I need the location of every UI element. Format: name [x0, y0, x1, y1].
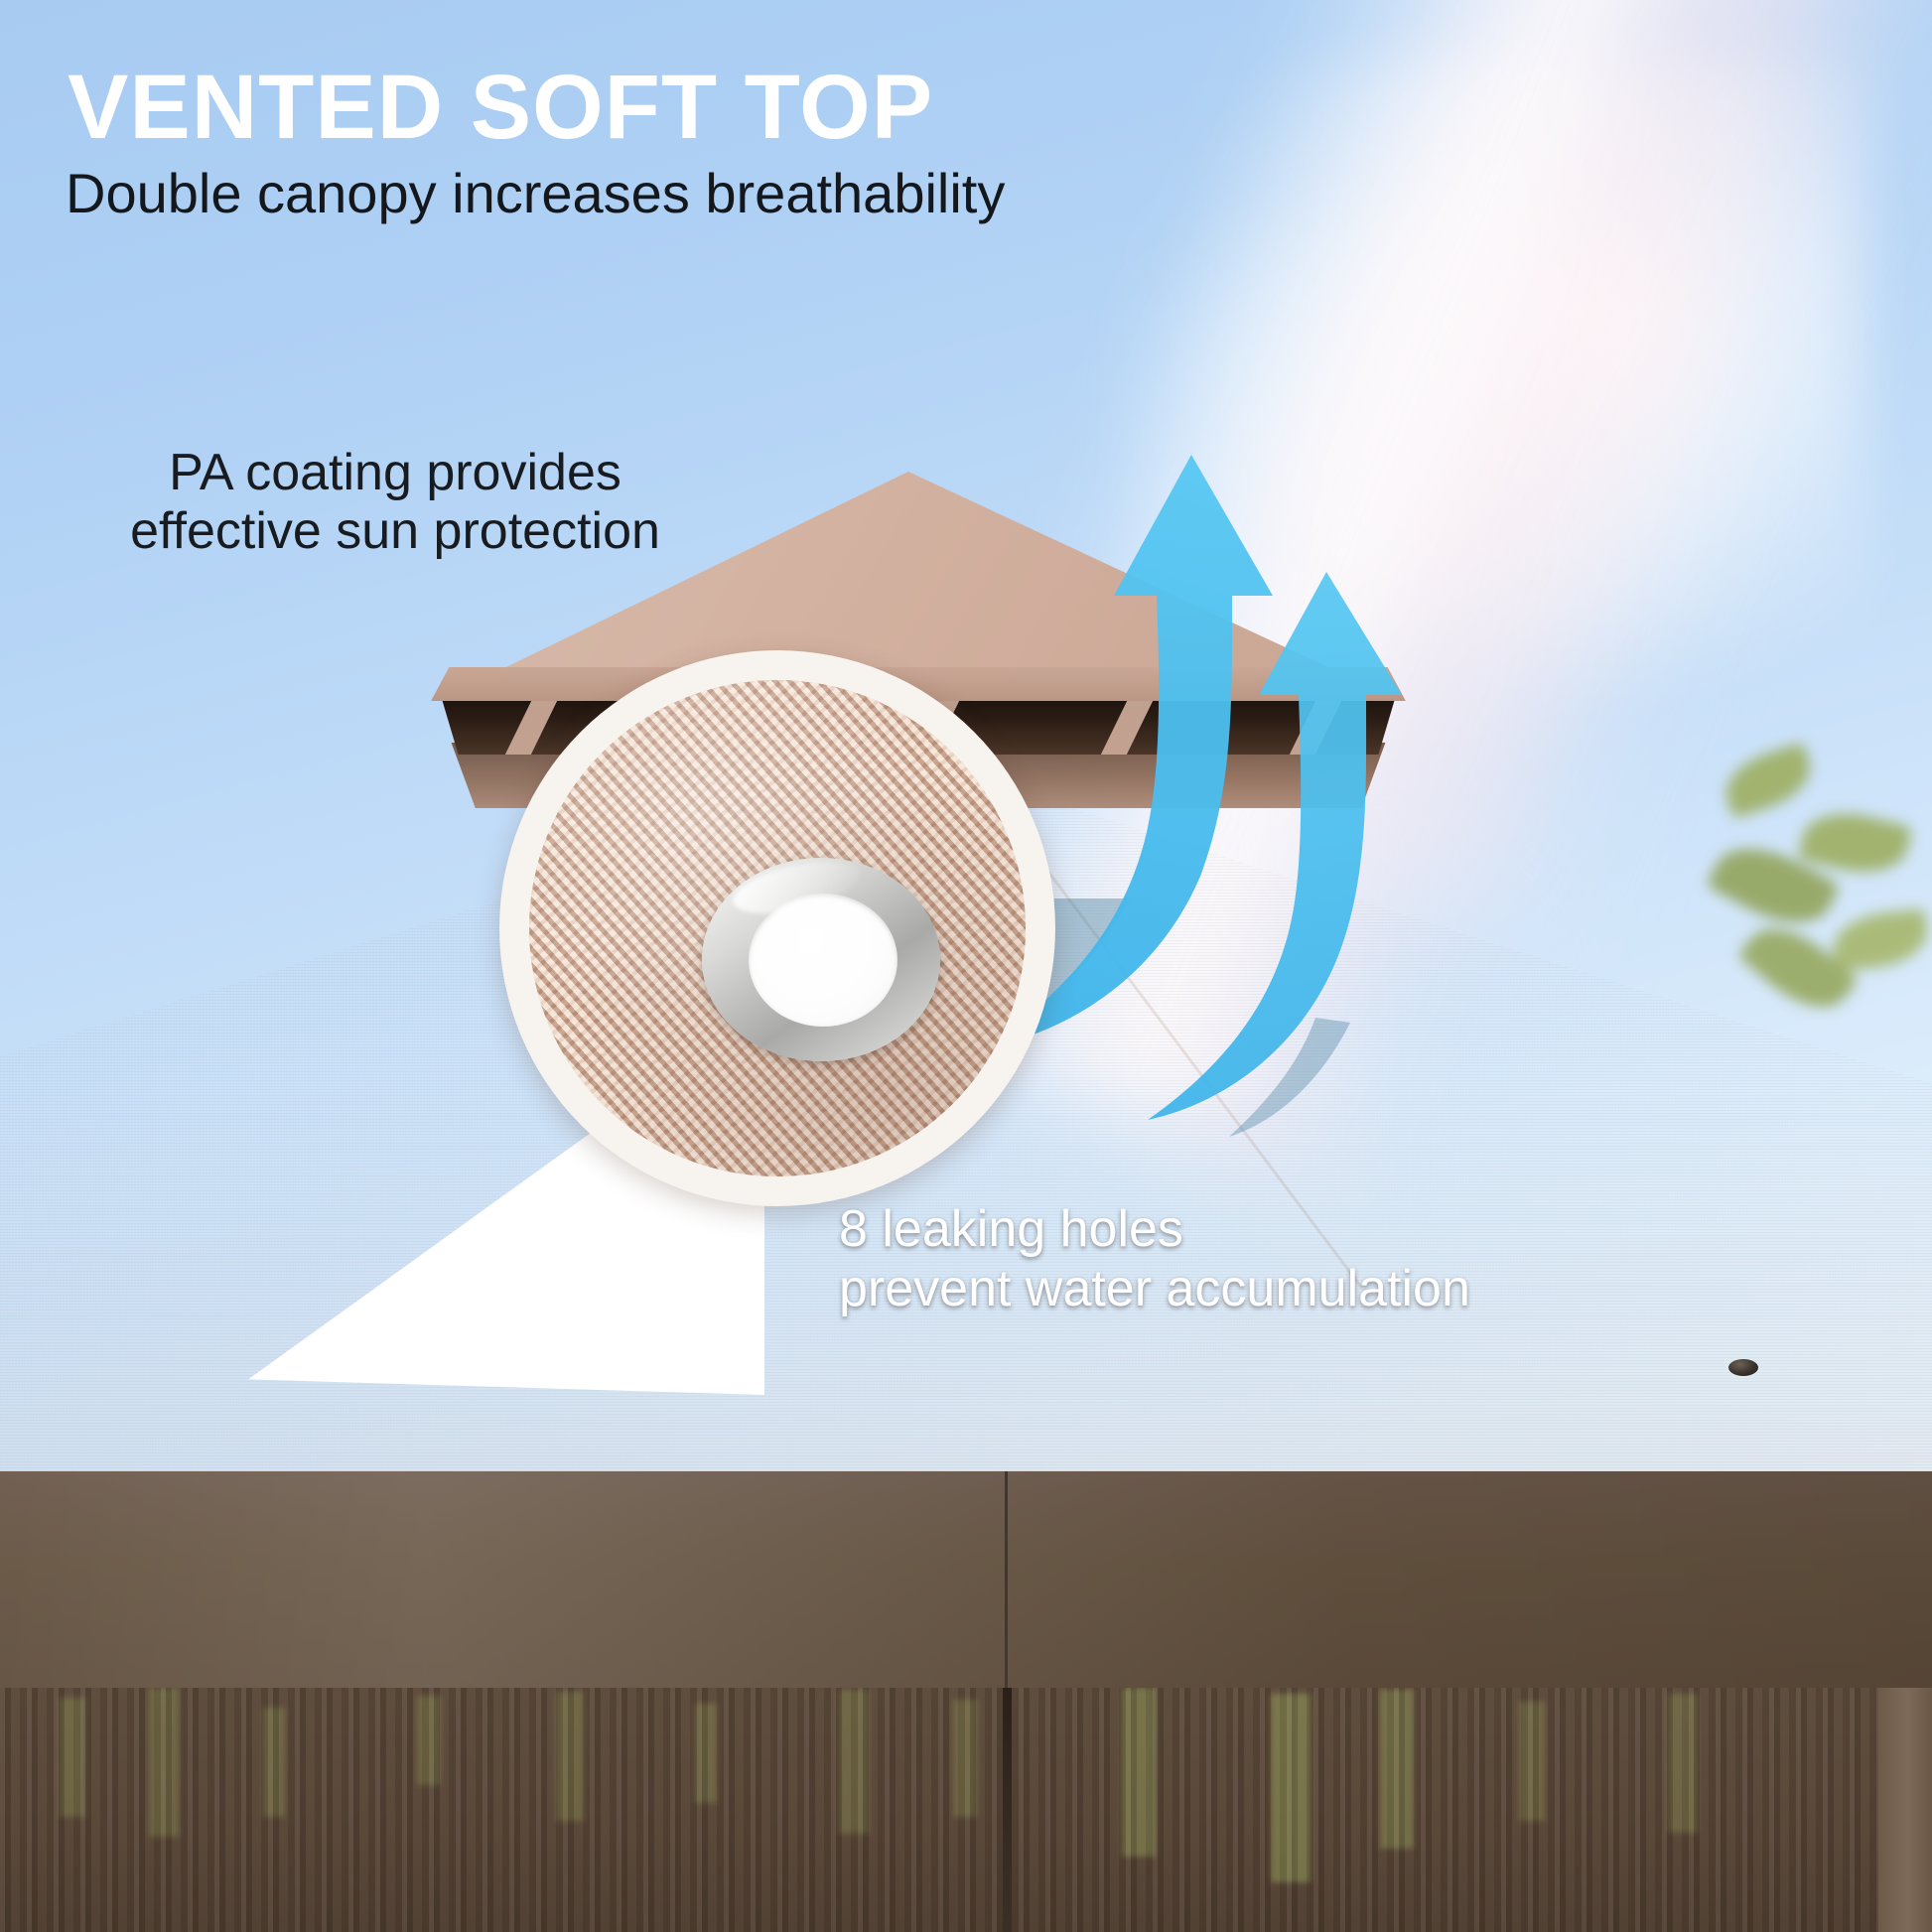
product-feature-image: VENTED SOFT TOP Double canopy increases …: [0, 0, 1932, 1932]
callout-pa-coating-line2: effective sun protection: [77, 502, 713, 561]
callout-leaking-holes: 8 leaking holes prevent water accumulati…: [839, 1199, 1470, 1319]
callout-pa-coating-line1: PA coating provides: [77, 444, 713, 502]
grommet-hole: [749, 894, 897, 1027]
callout-pa-coating: PA coating provides effective sun protec…: [77, 444, 713, 562]
headline-subtitle: Double canopy increases breathability: [66, 165, 1005, 223]
callout-leaking-holes-line1: 8 leaking holes: [839, 1199, 1470, 1259]
callout-leaking-holes-line2: prevent water accumulation: [839, 1259, 1470, 1318]
headline-title: VENTED SOFT TOP: [68, 62, 933, 153]
